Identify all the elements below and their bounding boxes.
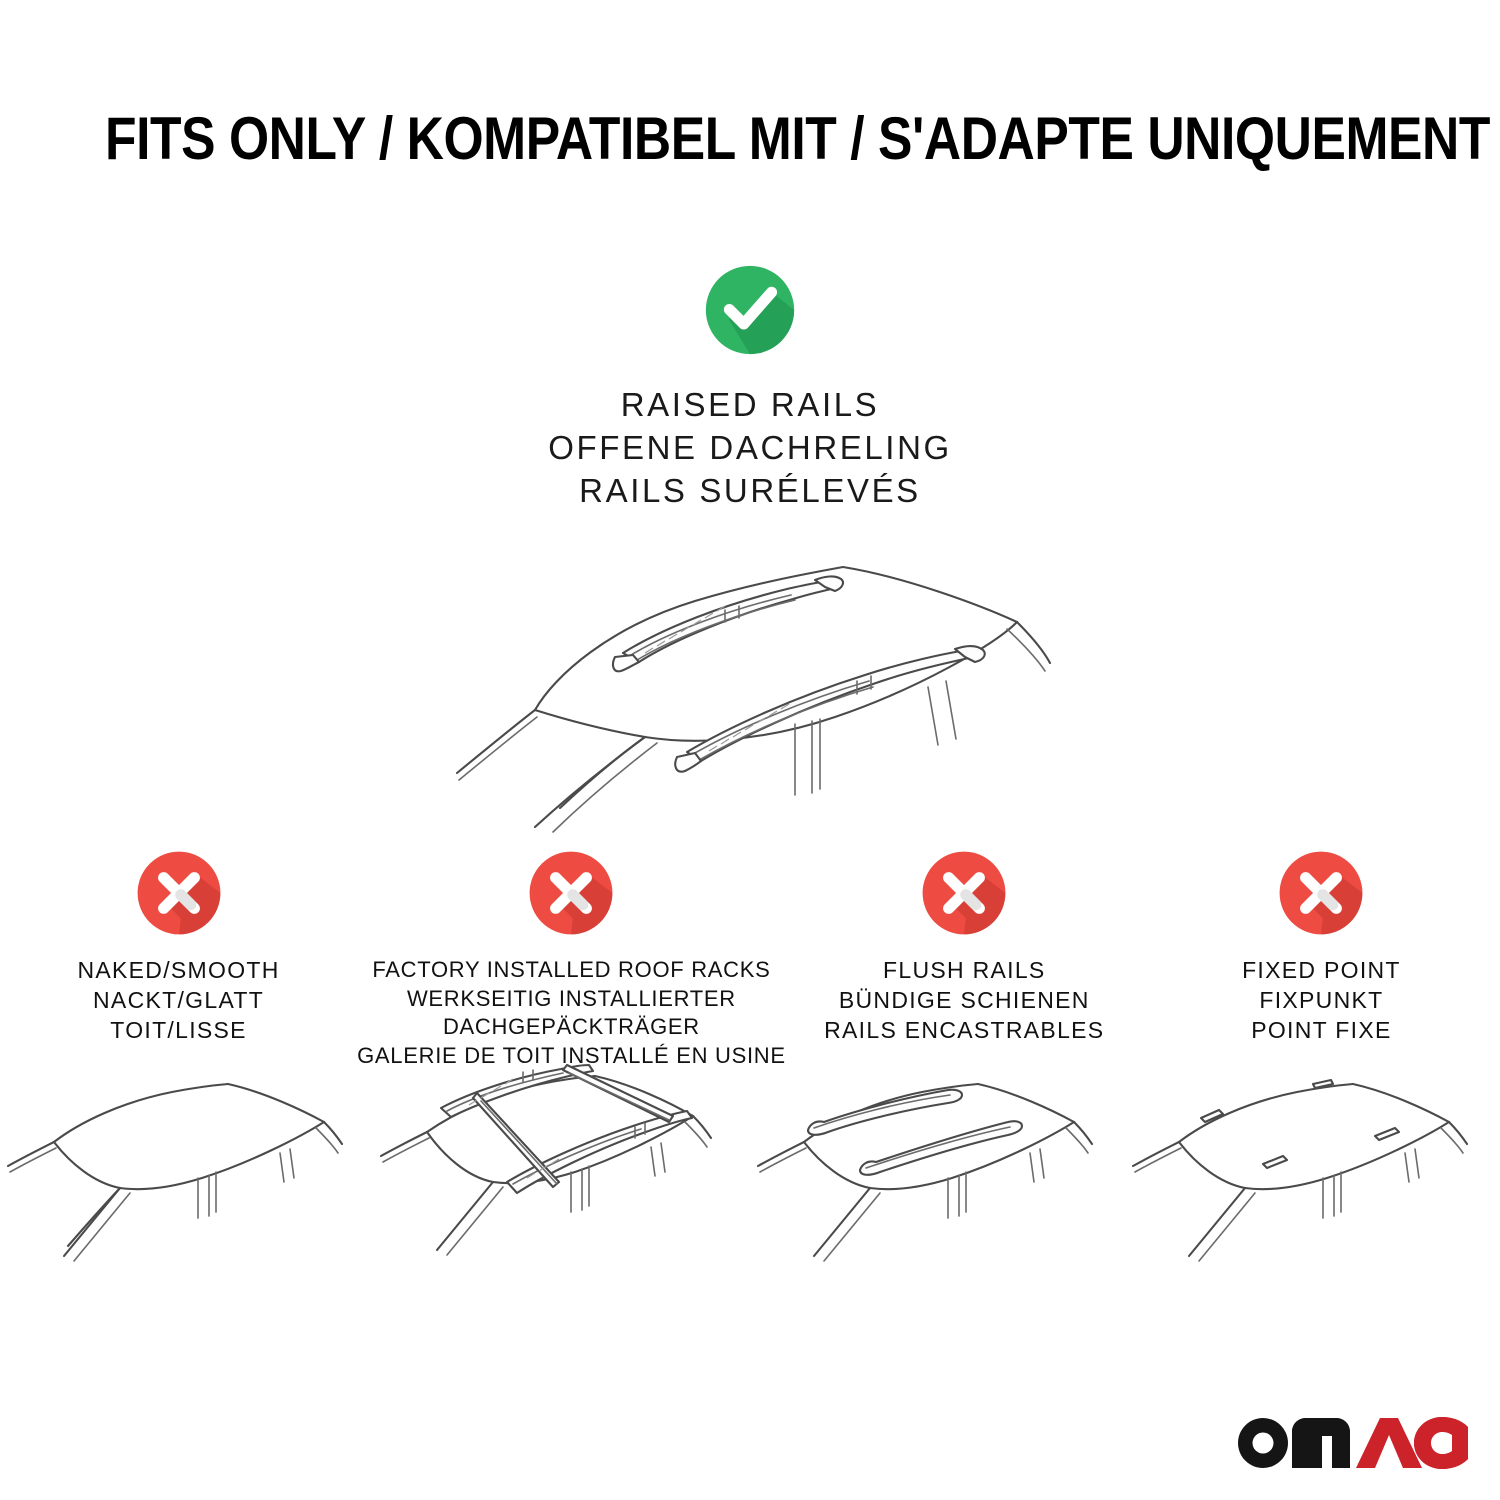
compatible-section: RAISED RAILS OFFENE DACHRELING RAILS SUR… [0, 262, 1500, 513]
label-line-2: BÜNDIGE SCHIENEN [824, 986, 1104, 1016]
label-line-3: DACHGEPÄCKTRÄGER [357, 1013, 786, 1042]
car-roof-flush-rails-illustration [750, 1060, 1125, 1300]
incompatible-label: FACTORY INSTALLED ROOF RACKS WERKSEITIG … [357, 956, 786, 1070]
label-line-2: NACKT/GLATT [77, 986, 279, 1016]
label-line-1: NAKED/SMOOTH [77, 956, 279, 986]
label-line-3: POINT FIXE [1242, 1016, 1401, 1046]
car-roof-factory-roof-racks-illustration [375, 1060, 750, 1300]
page-title: FITS ONLY / KOMPATIBEL MIT / S'ADAPTE UN… [105, 104, 1395, 173]
label-line-2: WERKSEITIG INSTALLIERTER [357, 985, 786, 1014]
compatible-label-line-1: RAISED RAILS [548, 384, 952, 427]
label-line-1: FLUSH RAILS [824, 956, 1104, 986]
car-roof-raised-rails-illustration [395, 505, 1105, 835]
incompatible-item-naked-smooth: NAKED/SMOOTH NACKT/GLATT TOIT/LISSE [0, 848, 357, 1070]
x-circle-icon [134, 848, 224, 938]
car-roof-naked-smooth-illustration [0, 1060, 375, 1300]
incompatible-label: FLUSH RAILS BÜNDIGE SCHIENEN RAILS ENCAS… [824, 956, 1104, 1046]
incompatible-item-factory-roof-racks: FACTORY INSTALLED ROOF RACKS WERKSEITIG … [357, 848, 786, 1070]
x-circle-icon [526, 848, 616, 938]
incompatible-item-fixed-point: FIXED POINT FIXPUNKT POINT FIXE [1143, 848, 1500, 1070]
incompatible-label: NAKED/SMOOTH NACKT/GLATT TOIT/LISSE [77, 956, 279, 1046]
x-circle-icon [919, 848, 1009, 938]
x-circle-icon [1276, 848, 1366, 938]
label-line-3: RAILS ENCASTRABLES [824, 1016, 1104, 1046]
header: FITS ONLY / KOMPATIBEL MIT / S'ADAPTE UN… [0, 104, 1500, 173]
label-line-2: FIXPUNKT [1242, 986, 1401, 1016]
check-circle-icon [702, 262, 798, 358]
label-line-3: TOIT/LISSE [77, 1016, 279, 1046]
compatible-label-line-2: OFFENE DACHRELING [548, 427, 952, 470]
label-line-1: FIXED POINT [1242, 956, 1401, 986]
incompatible-label: FIXED POINT FIXPUNKT POINT FIXE [1242, 956, 1401, 1046]
incompatible-illustrations [0, 1060, 1500, 1300]
omac-logo [1230, 1410, 1470, 1472]
incompatible-sections: NAKED/SMOOTH NACKT/GLATT TOIT/LISSE FACT… [0, 848, 1500, 1070]
compatible-label: RAISED RAILS OFFENE DACHRELING RAILS SUR… [548, 384, 952, 513]
incompatible-item-flush-rails: FLUSH RAILS BÜNDIGE SCHIENEN RAILS ENCAS… [786, 848, 1143, 1070]
label-line-1: FACTORY INSTALLED ROOF RACKS [357, 956, 786, 985]
car-roof-fixed-point-illustration [1125, 1060, 1500, 1300]
